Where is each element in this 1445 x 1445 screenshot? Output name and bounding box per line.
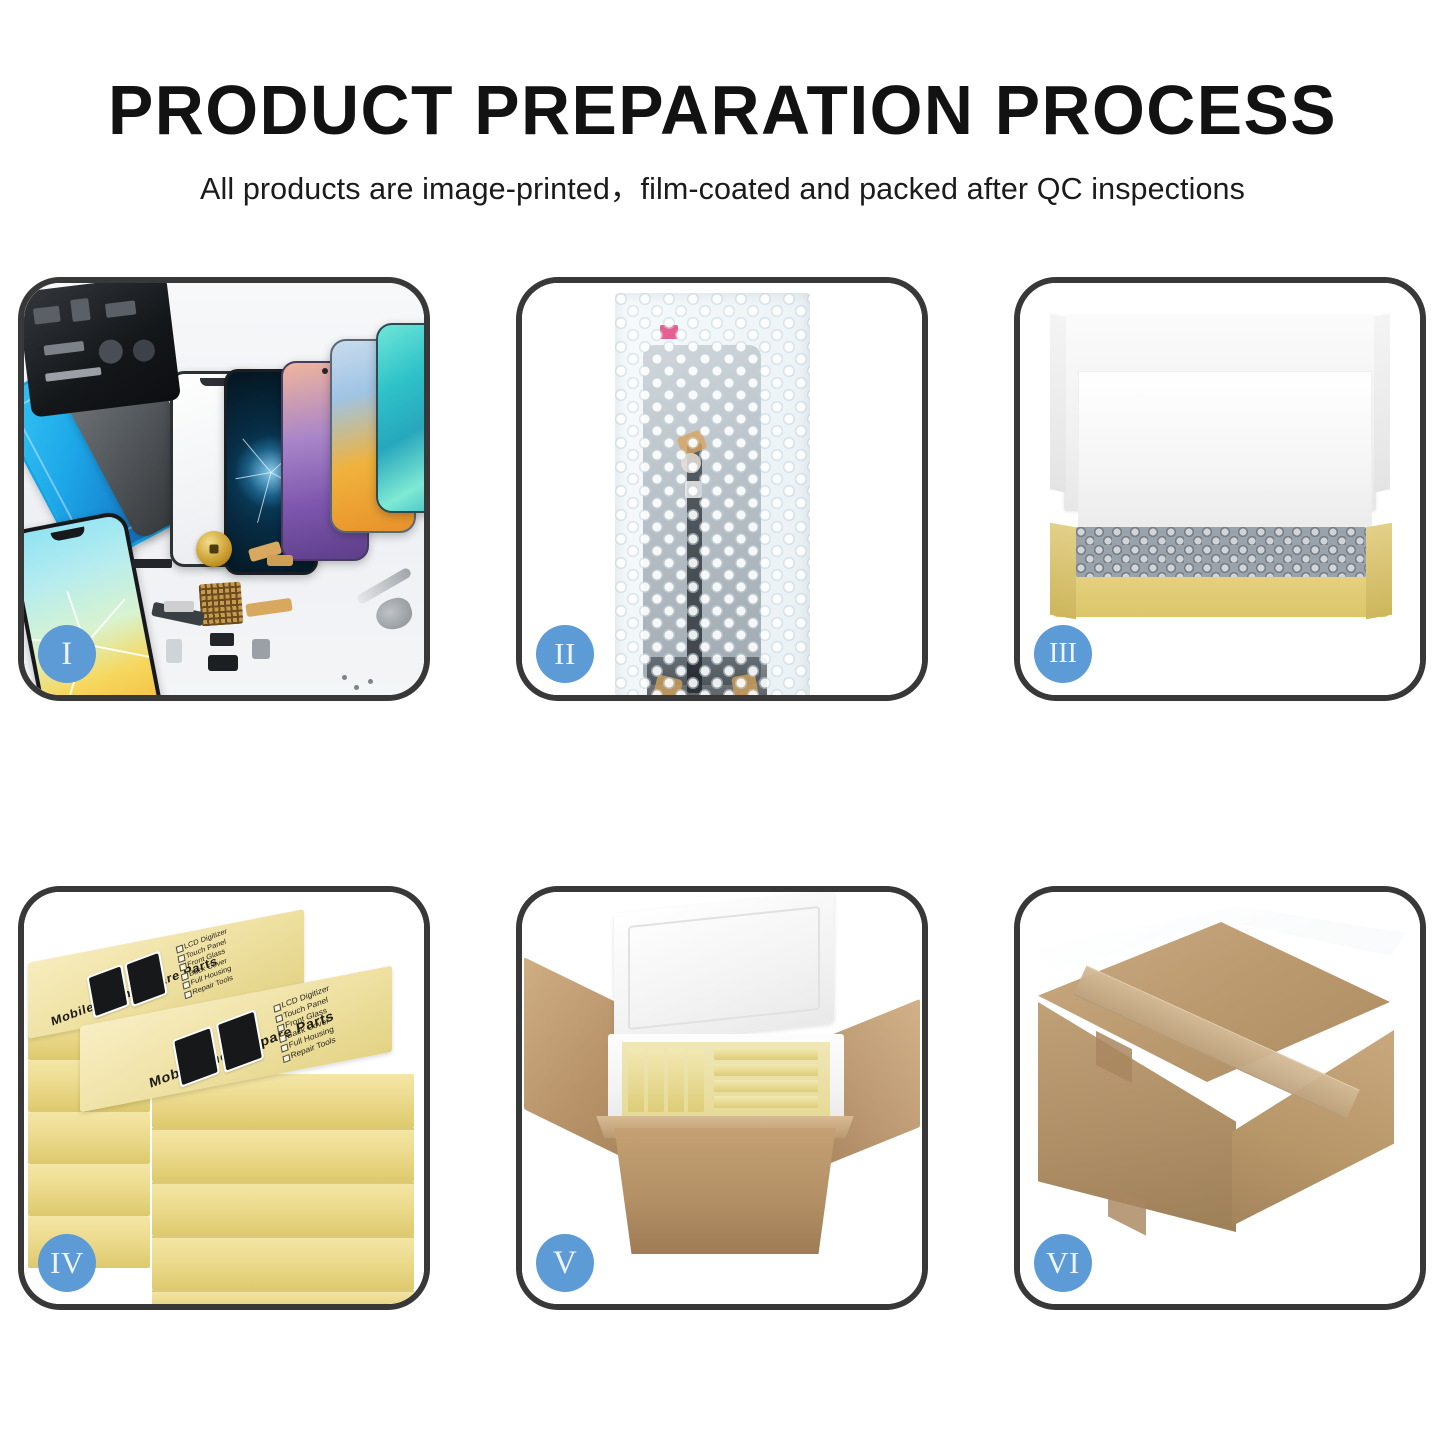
box-screen-thumbnail: [172, 1026, 220, 1088]
yellow-box-row: [628, 1048, 644, 1112]
yellow-box-row: [668, 1048, 684, 1112]
step-panel-2: II: [516, 277, 928, 701]
grey-bubble-wrap-lining: [1076, 527, 1366, 577]
thumbnail-screen: [127, 953, 166, 1005]
box-seam: [152, 1128, 414, 1130]
stacked-box: [152, 1236, 414, 1290]
screw: [354, 685, 359, 690]
yellow-box-row: [714, 1048, 818, 1060]
step-badge-4: IV: [38, 1234, 96, 1292]
box-screen-thumbnail: [86, 964, 129, 1019]
header: PRODUCT PREPARATION PROCESS All products…: [0, 0, 1445, 208]
small-component: [208, 655, 238, 671]
screw: [342, 675, 347, 680]
box-face: [152, 1290, 414, 1304]
page-subtitle: All products are image-printed，film-coat…: [0, 171, 1445, 208]
thumbnail-screen: [89, 966, 127, 1016]
yellow-box-row: [648, 1048, 664, 1112]
board-connector: [45, 367, 102, 382]
step-badge-6: VI: [1034, 1234, 1092, 1292]
flex-cable: [164, 601, 194, 612]
page-title: PRODUCT PREPARATION PROCESS: [22, 75, 1424, 145]
box-face: [152, 1182, 414, 1236]
step-panel-5: V: [516, 886, 928, 1310]
stacked-box: [28, 1164, 150, 1216]
yellow-box-row: [688, 1048, 704, 1112]
bubble-wrap-bag: [615, 293, 810, 695]
logic-board: [24, 283, 181, 418]
board-chip: [70, 298, 91, 322]
crack-line: [242, 438, 271, 472]
crack-line: [235, 472, 271, 479]
step-panel-1: I: [18, 277, 430, 701]
stacked-box: [152, 1128, 414, 1182]
box-checklist: LCD Digitizer Touch Panel Front Glass Ba…: [273, 984, 339, 1065]
speaker-bar: [132, 559, 172, 568]
box-checklist: LCD Digitizer Touch Panel Front Glass Ba…: [175, 926, 236, 1000]
step-panel-2-image: II: [522, 283, 922, 695]
box-screen-thumbnail: [216, 1009, 264, 1073]
step-panel-3: III: [1014, 277, 1426, 701]
box-face: [28, 1164, 150, 1216]
carton-body: [602, 1128, 848, 1254]
small-component: [252, 639, 270, 659]
bubble-texture: [615, 293, 810, 695]
stacked-box: [152, 1290, 414, 1304]
step-badge-5: V: [536, 1234, 594, 1292]
step-panel-6-image: VI: [1020, 892, 1420, 1304]
screw: [368, 679, 373, 684]
box-face: [152, 1128, 414, 1182]
flex-cable: [267, 555, 293, 566]
box-screen-thumbnail: [124, 950, 167, 1007]
styrofoam-lid: [614, 892, 834, 1046]
stacked-box: [28, 1112, 150, 1164]
box-seam: [152, 1236, 414, 1238]
teal-phone-display: [376, 323, 424, 513]
step-panel-4-image: Mobile Phone Spare Parts LCD Digitizer T…: [24, 892, 424, 1304]
box-face: [152, 1236, 414, 1290]
crack-line: [257, 472, 271, 522]
yellow-box-row: [714, 1080, 818, 1092]
box-seam: [152, 1290, 414, 1292]
step-panel-4: Mobile Phone Spare Parts LCD Digitizer T…: [18, 886, 430, 1310]
step-badge-1: I: [38, 625, 96, 683]
board-camera: [97, 338, 124, 365]
board-camera: [132, 338, 157, 363]
step-badge-3: III: [1034, 625, 1092, 683]
box-face: [28, 1112, 150, 1164]
sim-tray: [166, 639, 182, 663]
box-seam: [152, 1182, 414, 1184]
yellow-boxes-inside: [622, 1042, 830, 1118]
step-panel-1-image: I: [24, 283, 424, 695]
step-panel-3-image: III: [1020, 283, 1420, 695]
step-panel-6: VI: [1014, 886, 1426, 1310]
taptic-motor: [196, 531, 232, 567]
yellow-box-row: [714, 1064, 818, 1076]
thumbnail-screen: [174, 1028, 217, 1085]
small-component: [210, 633, 234, 646]
board-chip: [44, 341, 85, 356]
step-badge-2: II: [536, 625, 594, 683]
thumbnail-screen: [218, 1012, 262, 1071]
white-foam-pad: [1078, 371, 1372, 533]
infographic-page: PRODUCT PREPARATION PROCESS All products…: [0, 0, 1445, 1445]
yellow-box-row: [714, 1096, 818, 1108]
board-chip: [33, 306, 61, 325]
copper-mesh-pad: [199, 582, 244, 627]
board-chip: [105, 300, 136, 318]
step-panel-5-image: V: [522, 892, 922, 1304]
stacked-box: [152, 1182, 414, 1236]
title-wrap: PRODUCT PREPARATION PROCESS All products…: [0, 75, 1445, 208]
